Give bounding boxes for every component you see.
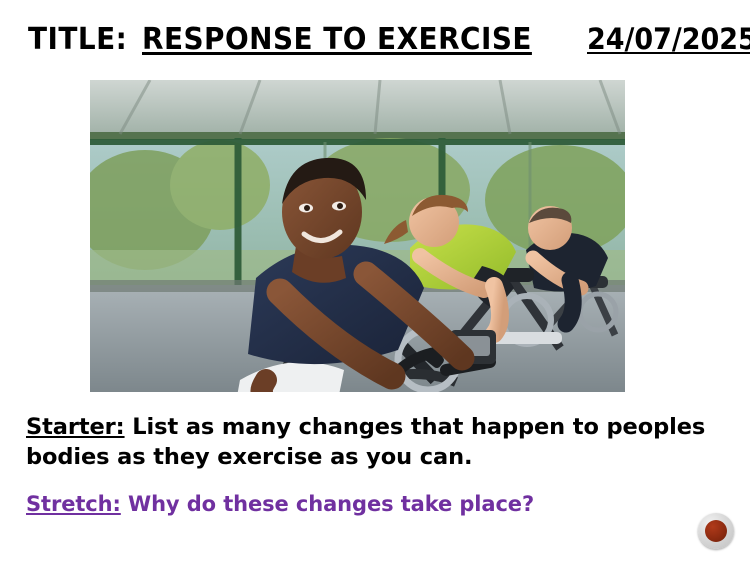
title-date: 24/07/2025 [587, 22, 750, 56]
stretch-label: Stretch: [26, 492, 121, 516]
stretch-text: Stretch: Why do these changes take place… [26, 490, 726, 518]
slide: TITLE: RESPONSE TO EXERCISE 24/07/2025 [0, 0, 750, 563]
starter-body: List as many changes that happen to peop… [26, 414, 705, 470]
record-button-inner [705, 520, 727, 542]
title-label: TITLE: [28, 22, 127, 57]
starter-text: Starter: List as many changes that happe… [26, 412, 726, 472]
record-button[interactable] [698, 513, 734, 549]
stretch-body: Why do these changes take place? [121, 492, 534, 516]
title-text: RESPONSE TO EXERCISE [142, 22, 532, 57]
spin-class-photo [90, 80, 625, 392]
starter-label: Starter: [26, 414, 125, 440]
page-title: TITLE: RESPONSE TO EXERCISE 24/07/2025 [28, 22, 750, 57]
